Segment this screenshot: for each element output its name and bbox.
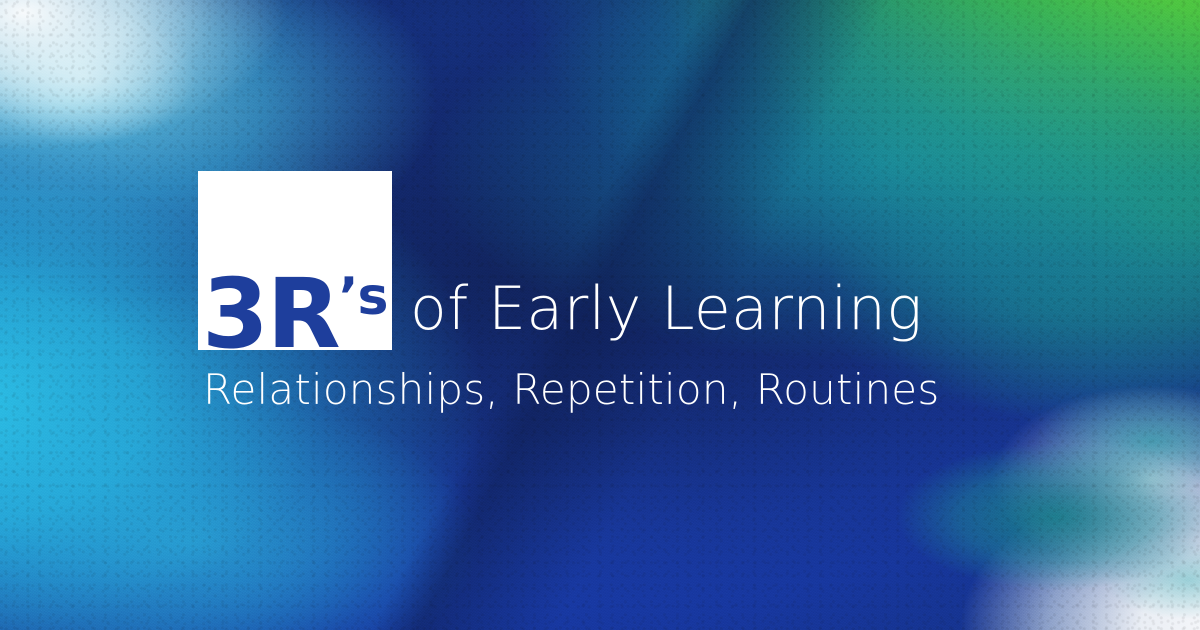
- headline-title: of Early Learning: [410, 279, 923, 339]
- logo-wordmark: 3R’s: [202, 266, 387, 350]
- banner-content: 3R’s of Early Learning Relationships, Re…: [0, 0, 1200, 630]
- watercolor-banner: 3R’s of Early Learning Relationships, Re…: [0, 0, 1200, 630]
- logo-wordmark-primary: 3R: [202, 258, 339, 350]
- logo-tile: 3R’s: [198, 171, 392, 350]
- subtitle-text: Relationships, Repetition, Routines: [203, 369, 939, 411]
- logo-wordmark-suffix: ’s: [339, 267, 388, 327]
